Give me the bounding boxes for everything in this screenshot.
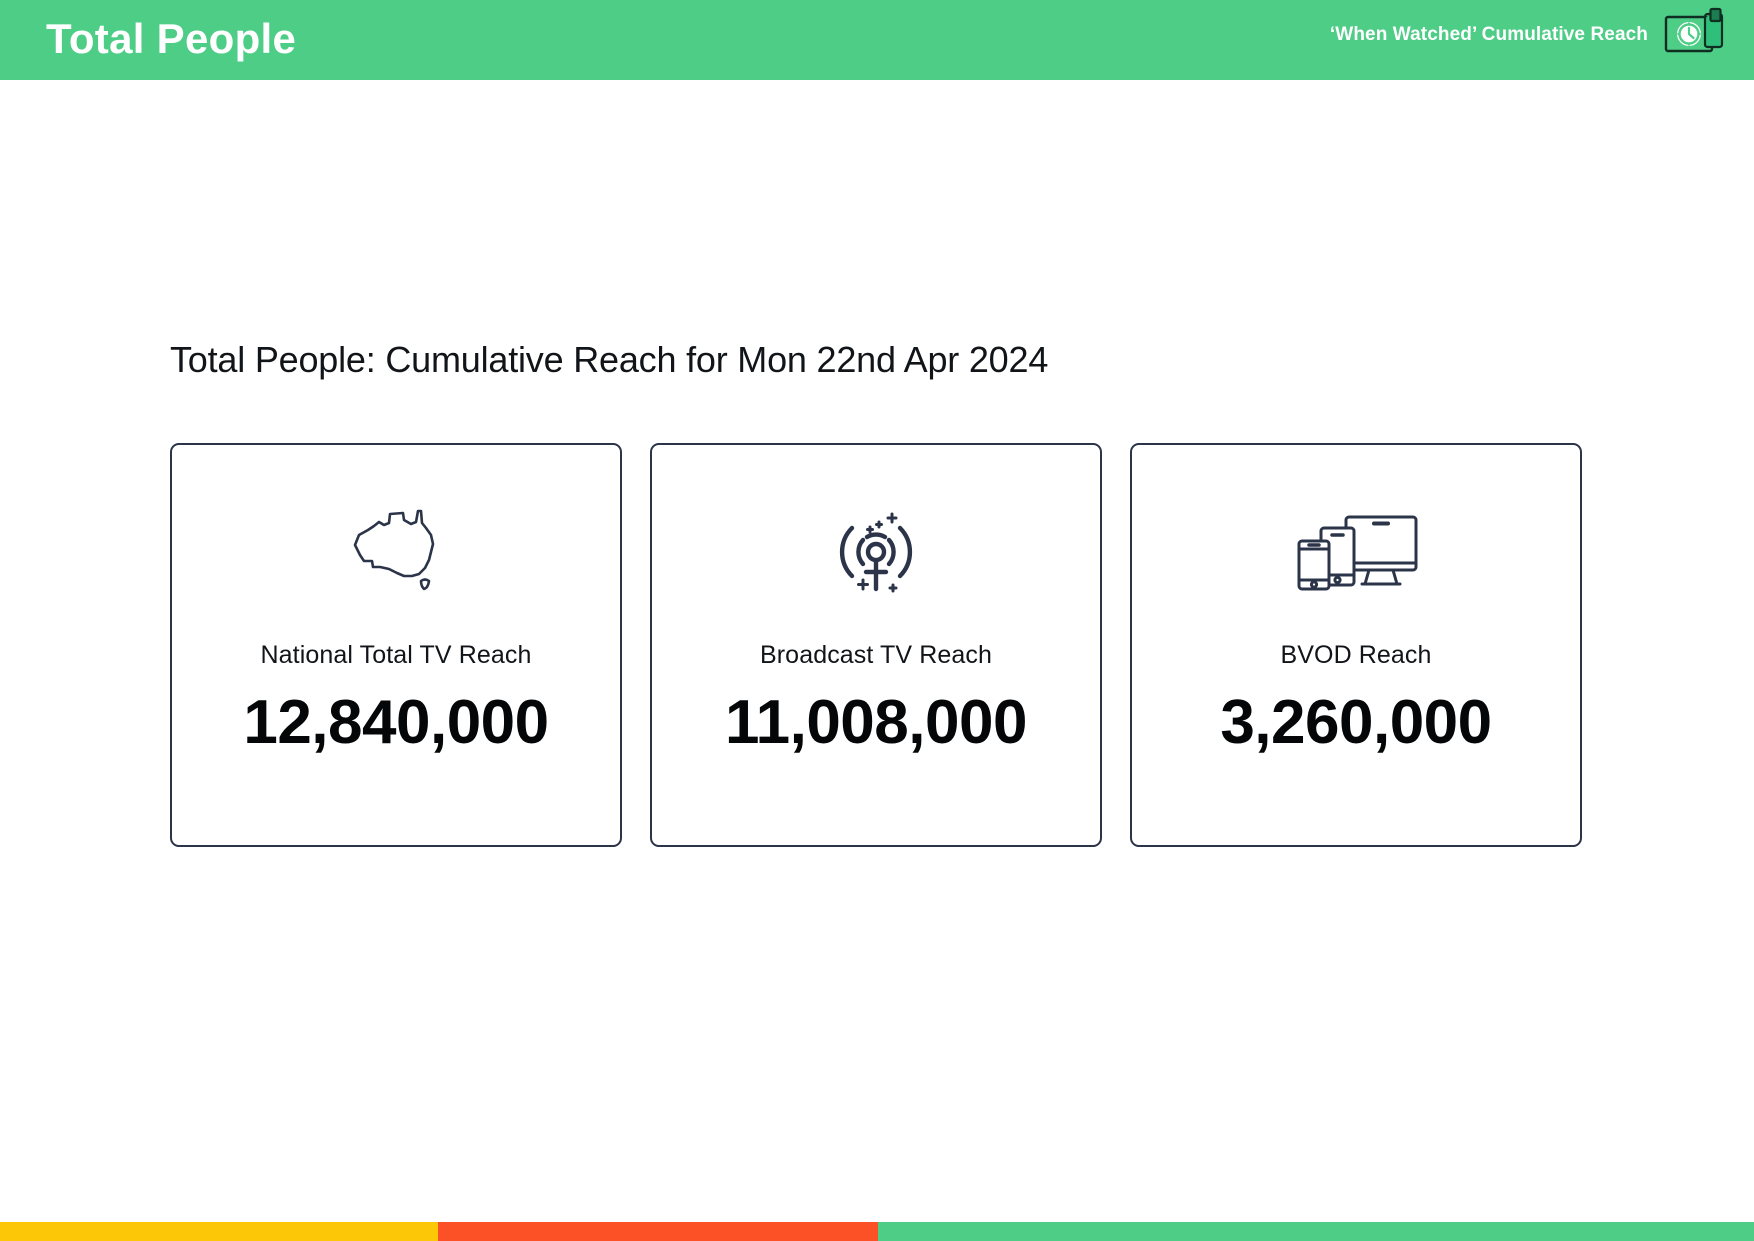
metric-card-bvod: BVOD Reach 3,260,000 [1130,443,1582,847]
page-title: Total People [46,18,296,60]
australia-map-icon [347,499,445,601]
devices-phone-tablet-monitor-icon [1289,499,1423,601]
card-value: 11,008,000 [725,690,1027,755]
card-label: National Total TV Reach [261,641,532,670]
card-label: Broadcast TV Reach [760,641,992,670]
footer-segment-yellow [0,1222,438,1241]
section-title: Total People: Cumulative Reach for Mon 2… [170,339,1048,381]
footer-segment-green [878,1222,1754,1241]
card-label: BVOD Reach [1280,641,1431,670]
footer-segment-orange [438,1222,878,1241]
card-value: 12,840,000 [243,690,548,755]
broadcast-antenna-icon [826,499,926,601]
metric-card-broadcast-tv: Broadcast TV Reach 11,008,000 [650,443,1102,847]
metric-card-national-total-tv: National Total TV Reach 12,840,000 [170,443,622,847]
footer-color-bar [0,1222,1754,1241]
card-value: 3,260,000 [1220,690,1491,755]
metric-cards-row: National Total TV Reach 12,840,000 [170,443,1582,847]
header-bar: Total People ‘When Watched’ Cumulative R… [0,0,1754,80]
header-subtitle: ‘When Watched’ Cumulative Reach [1330,24,1648,46]
header-right-group: ‘When Watched’ Cumulative Reach [1330,7,1730,63]
tv-clock-mobile-logo-icon [1664,7,1730,63]
